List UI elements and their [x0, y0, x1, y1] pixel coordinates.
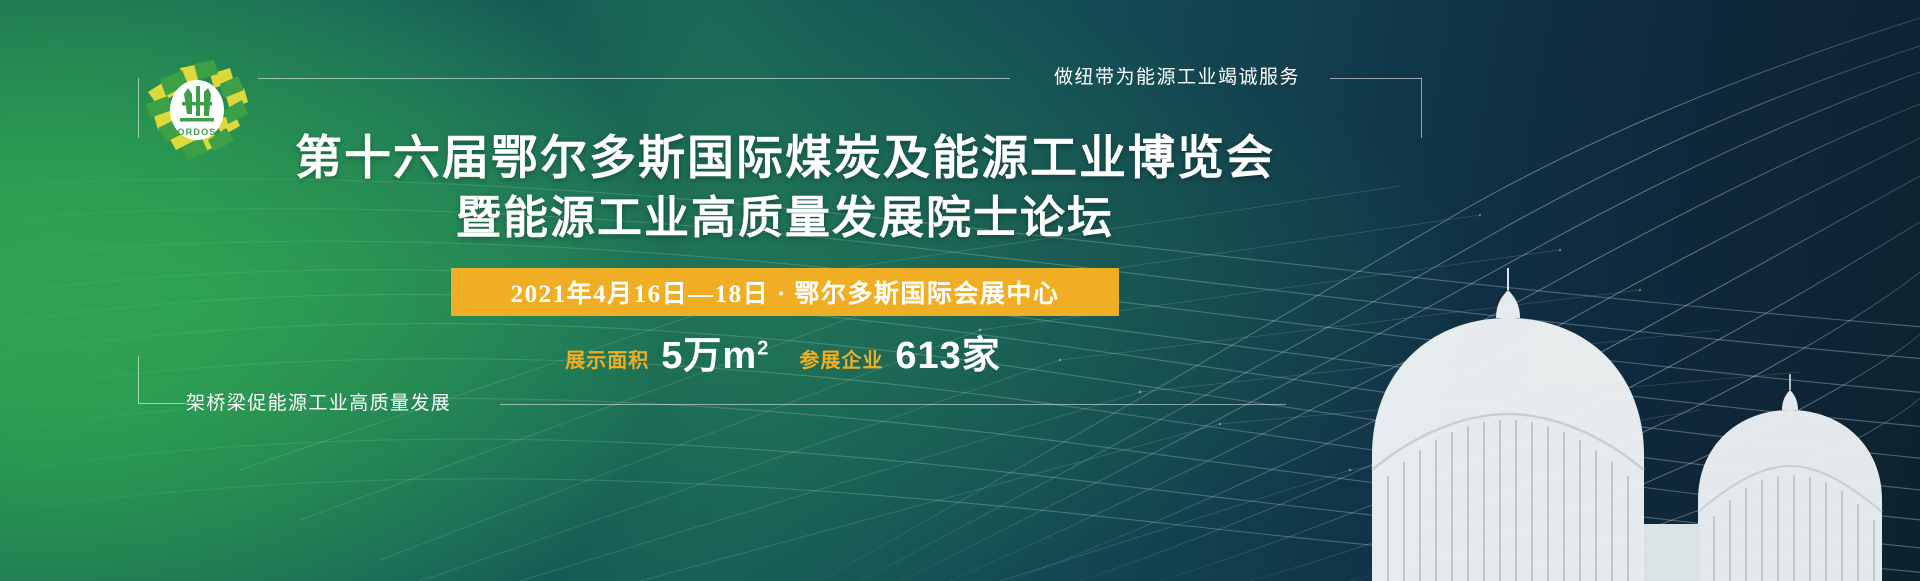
stat-amount-area: 5万m	[661, 335, 757, 377]
stats-row: 展示面积 5万m2 参展企业 613家	[451, 330, 1119, 378]
title-block: 第十六届鄂尔多斯国际煤炭及能源工业博览会 暨能源工业高质量发展院士论坛	[0, 132, 1570, 244]
tagline-top-right: 做纽带为能源工业竭诚服务	[1032, 63, 1322, 93]
date-venue-text: 2021年4月16日—18日 · 鄂尔多斯国际会展中心	[511, 274, 1060, 310]
divider-top-right	[1330, 78, 1422, 79]
date-venue-bar: 2021年4月16日—18日 · 鄂尔多斯国际会展中心	[451, 268, 1119, 316]
divider-bottom	[500, 404, 1286, 405]
frame-bracket-bottom-left-vertical	[138, 356, 139, 404]
stat-value-area: 5万m2	[657, 336, 773, 378]
divider-top-left	[258, 78, 1010, 79]
stat-label-area: 展示面积	[565, 344, 649, 378]
event-title-line-1: 第十六届鄂尔多斯国际煤炭及能源工业博览会	[0, 132, 1570, 186]
exhibition-banner: ORDOS 做纽带为能源工业竭诚服务 架桥梁促能源工业高质量发展 第十六届鄂尔多…	[0, 0, 1920, 581]
frame-bracket-bottom-left-horizontal	[138, 403, 186, 404]
stat-exhibition-area: 展示面积 5万m2	[565, 336, 773, 378]
stat-superscript-area: 2	[757, 337, 769, 359]
stat-label-exhibitors: 参展企业	[799, 344, 883, 378]
stat-exhibitor-count: 参展企业 613家	[799, 336, 1004, 378]
frame-bracket-top-right-vertical	[1421, 78, 1422, 138]
stat-value-exhibitors: 613家	[891, 336, 1004, 378]
event-title-line-2: 暨能源工业高质量发展院士论坛	[0, 192, 1570, 244]
tagline-bottom-left: 架桥梁促能源工业高质量发展	[186, 389, 451, 419]
stat-amount-exhibitors: 613家	[895, 335, 1000, 377]
